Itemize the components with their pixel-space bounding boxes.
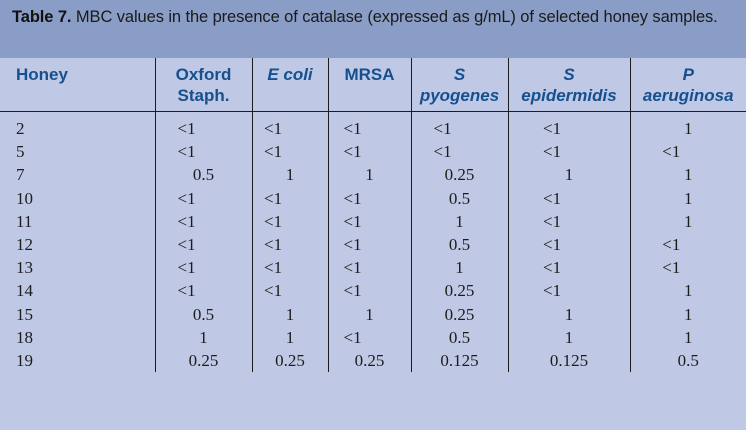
cell-paeruginosa: 1 xyxy=(630,303,746,326)
cell-mrsa: <1 xyxy=(328,256,411,279)
column-header-paeruginosa-line2: aeruginosa xyxy=(631,85,746,106)
table-row: 12<1<1<10.5<1<1 xyxy=(0,233,746,256)
column-header-spyogenes-line2: pyogenes xyxy=(412,85,508,106)
cell-sepidermidis: 1 xyxy=(508,326,630,349)
cell-spyogenes: 0.25 xyxy=(411,303,508,326)
cell-honey-id: 11 xyxy=(0,210,155,233)
cell-value: 1 xyxy=(662,303,714,326)
cell-value: <1 xyxy=(434,140,486,163)
cell-oxford: <1 xyxy=(155,279,252,302)
column-header-s-pyogenes: S pyogenes xyxy=(411,58,508,112)
cell-value: <1 xyxy=(662,233,714,256)
cell-mrsa: <1 xyxy=(328,210,411,233)
cell-value: <1 xyxy=(178,117,230,140)
cell-honey-id: 7 xyxy=(0,163,155,186)
cell-spyogenes: 0.25 xyxy=(411,279,508,302)
cell-mrsa: 0.25 xyxy=(328,349,411,372)
column-header-oxford-line1: Oxford xyxy=(156,64,252,85)
cell-ecoli: <1 xyxy=(252,256,328,279)
cell-value: 0.125 xyxy=(543,349,595,372)
table-caption-label: Table 7. xyxy=(12,8,71,26)
cell-paeruginosa: 1 xyxy=(630,326,746,349)
table-container: Honey Oxford Staph. E coli MRSA xyxy=(0,58,746,430)
table-row: 150.5110.2511 xyxy=(0,303,746,326)
cell-mrsa: <1 xyxy=(328,233,411,256)
cell-ecoli: 1 xyxy=(252,163,328,186)
cell-ecoli: <1 xyxy=(252,140,328,163)
cell-ecoli: 0.25 xyxy=(252,349,328,372)
cell-oxford: <1 xyxy=(155,210,252,233)
cell-paeruginosa: 1 xyxy=(630,112,746,141)
cell-value: <1 xyxy=(543,256,595,279)
cell-mrsa: <1 xyxy=(328,140,411,163)
table-body: 2<1<1<1<1<115<1<1<1<1<1<170.5110.251110<… xyxy=(0,112,746,373)
cell-paeruginosa: <1 xyxy=(630,233,746,256)
cell-value: 0.5 xyxy=(178,303,230,326)
column-header-paeruginosa-line1: P xyxy=(631,64,746,85)
cell-value: <1 xyxy=(344,279,396,302)
cell-ecoli: <1 xyxy=(252,112,328,141)
cell-mrsa: <1 xyxy=(328,279,411,302)
column-header-honey: Honey xyxy=(0,58,155,112)
column-header-ecoli-line1: E coli xyxy=(253,64,328,85)
cell-oxford: <1 xyxy=(155,187,252,210)
cell-honey-id: 5 xyxy=(0,140,155,163)
cell-spyogenes: <1 xyxy=(411,112,508,141)
cell-ecoli: 1 xyxy=(252,303,328,326)
cell-value: <1 xyxy=(264,117,316,140)
cell-value: <1 xyxy=(178,140,230,163)
cell-value: <1 xyxy=(264,279,316,302)
cell-honey-id: 18 xyxy=(0,326,155,349)
cell-oxford: 1 xyxy=(155,326,252,349)
table-head: Honey Oxford Staph. E coli MRSA xyxy=(0,58,746,112)
cell-value: <1 xyxy=(543,117,595,140)
cell-value: <1 xyxy=(543,233,595,256)
table-row: 70.5110.2511 xyxy=(0,163,746,186)
cell-spyogenes: 1 xyxy=(411,210,508,233)
table-caption-body: MBC values in the presence of catalase (… xyxy=(71,8,717,26)
cell-honey-id: 10 xyxy=(0,187,155,210)
cell-value: 1 xyxy=(662,187,714,210)
cell-value: 0.25 xyxy=(344,349,396,372)
cell-sepidermidis: 1 xyxy=(508,163,630,186)
cell-ecoli: 1 xyxy=(252,326,328,349)
cell-oxford: 0.5 xyxy=(155,303,252,326)
cell-value: 1 xyxy=(264,303,316,326)
cell-oxford: <1 xyxy=(155,112,252,141)
cell-value: 1 xyxy=(543,303,595,326)
cell-value: <1 xyxy=(264,140,316,163)
cell-ecoli: <1 xyxy=(252,279,328,302)
cell-value: 0.25 xyxy=(434,303,486,326)
cell-value: <1 xyxy=(344,233,396,256)
cell-value: 0.5 xyxy=(662,349,714,372)
cell-sepidermidis: <1 xyxy=(508,279,630,302)
cell-value: 1 xyxy=(264,326,316,349)
cell-value: <1 xyxy=(178,187,230,210)
cell-value: <1 xyxy=(434,117,486,140)
cell-value: <1 xyxy=(344,140,396,163)
column-header-sepidermidis-line1: S xyxy=(509,64,630,85)
mbc-values-table: Honey Oxford Staph. E coli MRSA xyxy=(0,58,746,372)
cell-sepidermidis: 0.125 xyxy=(508,349,630,372)
cell-value: 1 xyxy=(662,210,714,233)
cell-sepidermidis: <1 xyxy=(508,256,630,279)
cell-value: 0.5 xyxy=(434,187,486,210)
cell-value: <1 xyxy=(344,210,396,233)
cell-spyogenes: 0.5 xyxy=(411,233,508,256)
cell-value: <1 xyxy=(178,256,230,279)
cell-oxford: <1 xyxy=(155,140,252,163)
table-figure: Table 7. MBC values in the presence of c… xyxy=(0,0,746,430)
cell-value: <1 xyxy=(264,233,316,256)
cell-value: <1 xyxy=(178,279,230,302)
cell-oxford: <1 xyxy=(155,233,252,256)
cell-paeruginosa: <1 xyxy=(630,256,746,279)
cell-mrsa: <1 xyxy=(328,326,411,349)
cell-paeruginosa: 1 xyxy=(630,187,746,210)
cell-value: 0.25 xyxy=(264,349,316,372)
cell-value: <1 xyxy=(543,140,595,163)
table-row: 190.250.250.250.1250.1250.5 xyxy=(0,349,746,372)
cell-paeruginosa: <1 xyxy=(630,140,746,163)
cell-spyogenes: 0.25 xyxy=(411,163,508,186)
cell-ecoli: <1 xyxy=(252,187,328,210)
table-row: 11<1<1<11<11 xyxy=(0,210,746,233)
table-row: 10<1<1<10.5<11 xyxy=(0,187,746,210)
cell-value: 1 xyxy=(264,163,316,186)
column-header-mrsa: MRSA xyxy=(328,58,411,112)
cell-honey-id: 14 xyxy=(0,279,155,302)
cell-paeruginosa: 1 xyxy=(630,210,746,233)
cell-paeruginosa: 0.5 xyxy=(630,349,746,372)
cell-mrsa: 1 xyxy=(328,303,411,326)
cell-value: <1 xyxy=(178,233,230,256)
cell-sepidermidis: 1 xyxy=(508,303,630,326)
cell-value: <1 xyxy=(344,326,396,349)
cell-sepidermidis: <1 xyxy=(508,210,630,233)
column-header-s-epidermidis: S epidermidis xyxy=(508,58,630,112)
cell-value: <1 xyxy=(264,256,316,279)
cell-spyogenes: 0.5 xyxy=(411,326,508,349)
cell-value: 1 xyxy=(434,210,486,233)
cell-sepidermidis: <1 xyxy=(508,140,630,163)
cell-value: 0.5 xyxy=(434,326,486,349)
cell-value: <1 xyxy=(344,187,396,210)
cell-spyogenes: 1 xyxy=(411,256,508,279)
cell-value: 0.5 xyxy=(178,163,230,186)
cell-mrsa: 1 xyxy=(328,163,411,186)
column-header-honey-line1: Honey xyxy=(16,64,155,85)
cell-oxford: <1 xyxy=(155,256,252,279)
table-row: 2<1<1<1<1<11 xyxy=(0,112,746,141)
cell-value: 0.125 xyxy=(434,349,486,372)
cell-value: 1 xyxy=(434,256,486,279)
cell-spyogenes: <1 xyxy=(411,140,508,163)
cell-value: 0.5 xyxy=(434,233,486,256)
cell-value: 0.25 xyxy=(178,349,230,372)
cell-ecoli: <1 xyxy=(252,210,328,233)
cell-honey-id: 2 xyxy=(0,112,155,141)
table-row: 14<1<1<10.25<11 xyxy=(0,279,746,302)
cell-value: 1 xyxy=(344,163,396,186)
table-row: 1811<10.511 xyxy=(0,326,746,349)
cell-value: <1 xyxy=(178,210,230,233)
cell-mrsa: <1 xyxy=(328,187,411,210)
table-caption-band: Table 7. MBC values in the presence of c… xyxy=(0,0,746,58)
cell-value: <1 xyxy=(344,117,396,140)
cell-honey-id: 12 xyxy=(0,233,155,256)
column-header-p-aeruginosa: P aeruginosa xyxy=(630,58,746,112)
cell-oxford: 0.5 xyxy=(155,163,252,186)
cell-value: <1 xyxy=(543,210,595,233)
cell-mrsa: <1 xyxy=(328,112,411,141)
cell-value: 1 xyxy=(662,279,714,302)
cell-value: <1 xyxy=(543,187,595,210)
column-header-e-coli: E coli xyxy=(252,58,328,112)
table-header-row: Honey Oxford Staph. E coli MRSA xyxy=(0,58,746,112)
cell-honey-id: 13 xyxy=(0,256,155,279)
cell-sepidermidis: <1 xyxy=(508,112,630,141)
cell-value: <1 xyxy=(662,140,714,163)
cell-value: 1 xyxy=(543,326,595,349)
cell-value: <1 xyxy=(543,279,595,302)
cell-value: <1 xyxy=(264,210,316,233)
cell-honey-id: 15 xyxy=(0,303,155,326)
cell-value: 1 xyxy=(344,303,396,326)
column-header-spyogenes-line1: S xyxy=(412,64,508,85)
cell-value: 1 xyxy=(178,326,230,349)
cell-value: 0.25 xyxy=(434,279,486,302)
cell-paeruginosa: 1 xyxy=(630,163,746,186)
table-row: 5<1<1<1<1<1<1 xyxy=(0,140,746,163)
cell-spyogenes: 0.125 xyxy=(411,349,508,372)
table-caption: Table 7. MBC values in the presence of c… xyxy=(12,5,734,30)
table-row: 13<1<1<11<1<1 xyxy=(0,256,746,279)
cell-oxford: 0.25 xyxy=(155,349,252,372)
cell-honey-id: 19 xyxy=(0,349,155,372)
cell-value: 1 xyxy=(662,326,714,349)
cell-value: 1 xyxy=(662,163,714,186)
cell-spyogenes: 0.5 xyxy=(411,187,508,210)
cell-value: 0.25 xyxy=(434,163,486,186)
column-header-mrsa-line1: MRSA xyxy=(329,64,411,85)
column-header-sepidermidis-line2: epidermidis xyxy=(509,85,630,106)
column-header-oxford-line2: Staph. xyxy=(156,85,252,106)
column-header-oxford-staph: Oxford Staph. xyxy=(155,58,252,112)
cell-value: 1 xyxy=(662,117,714,140)
cell-sepidermidis: <1 xyxy=(508,187,630,210)
cell-paeruginosa: 1 xyxy=(630,279,746,302)
cell-ecoli: <1 xyxy=(252,233,328,256)
cell-sepidermidis: <1 xyxy=(508,233,630,256)
cell-value: <1 xyxy=(264,187,316,210)
cell-value: <1 xyxy=(662,256,714,279)
cell-value: 1 xyxy=(543,163,595,186)
cell-value: <1 xyxy=(344,256,396,279)
